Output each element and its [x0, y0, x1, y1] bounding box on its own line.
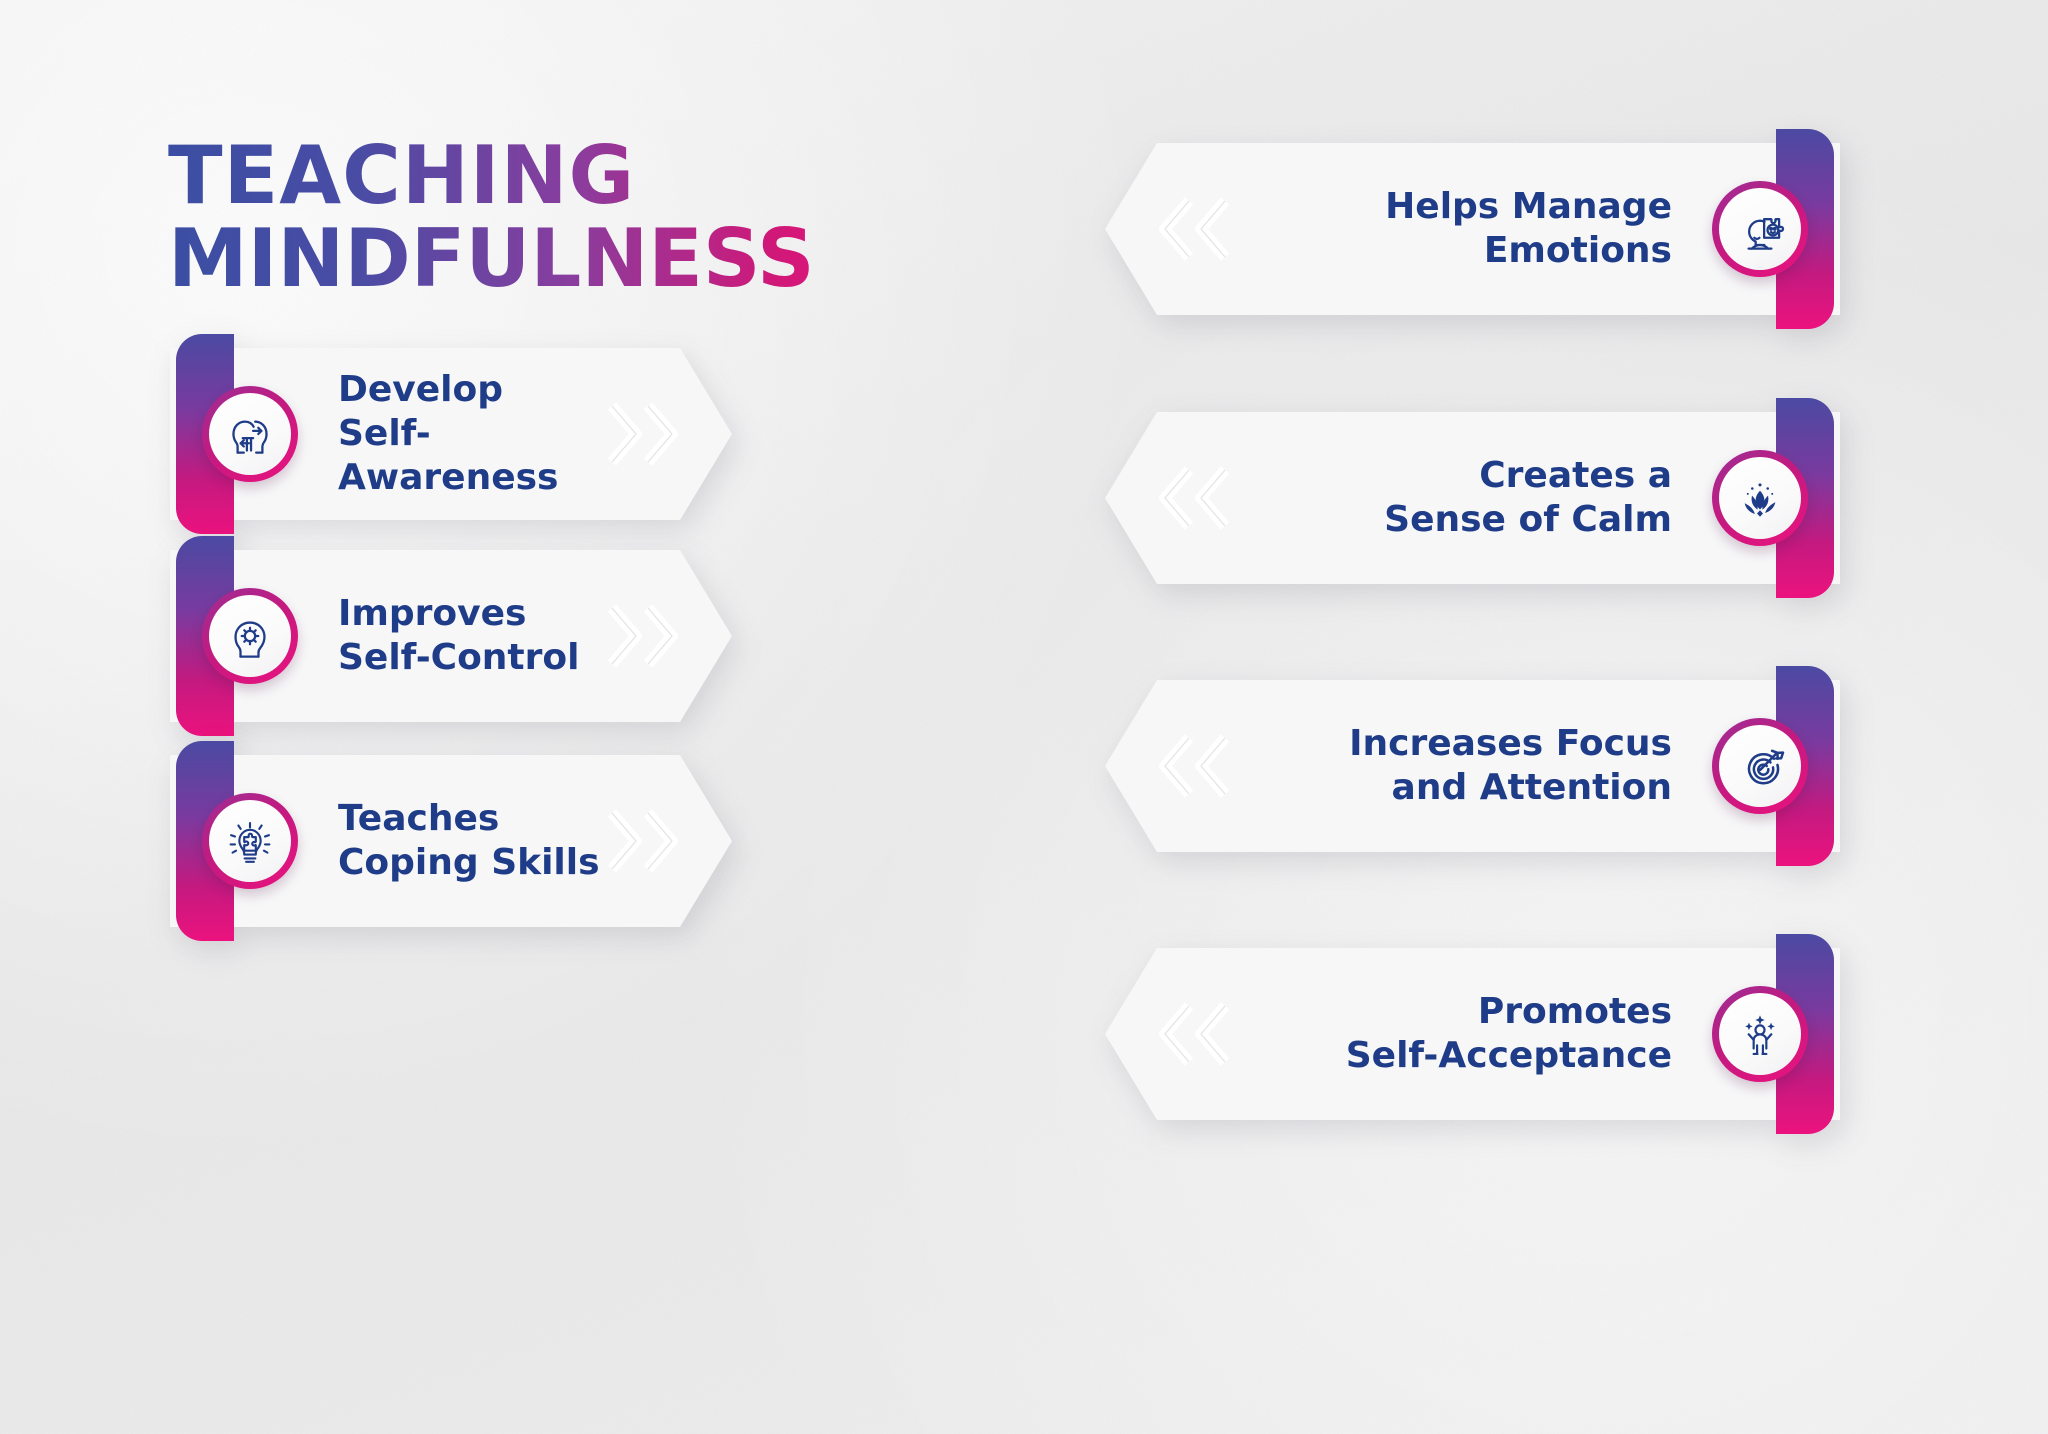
card-increases-focus-and-attention[interactable]: Increases Focus and Attention [1105, 680, 1840, 852]
title-line-teaching: TEACHING [168, 138, 908, 215]
person-sparkles-icon [1712, 986, 1808, 1082]
head-gear-icon [202, 588, 298, 684]
card-label: Increases Focus and Attention [1235, 722, 1672, 810]
chevron-left-decoration [1159, 197, 1229, 261]
card-label: Promotes Self-Acceptance [1235, 990, 1672, 1078]
chevron-right-decoration [608, 809, 678, 873]
card-label: Creates a Sense of Calm [1235, 454, 1672, 542]
head-smiley-puzzle-icon [1712, 181, 1808, 277]
card-improves-self-control[interactable]: Improves Self-Control [170, 550, 732, 722]
card-creates-sense-of-calm[interactable]: Creates a Sense of Calm [1105, 412, 1840, 584]
chevron-right-decoration [608, 402, 678, 466]
chevron-left-decoration [1159, 466, 1229, 530]
card-label: Helps Manage Emotions [1235, 185, 1672, 273]
chevron-left-decoration [1159, 1002, 1229, 1066]
target-arrow-icon [1712, 718, 1808, 814]
card-label: Improves Self-Control [338, 592, 612, 680]
chevron-right-decoration [608, 604, 678, 668]
card-teaches-coping-skills[interactable]: Teaches Coping Skills [170, 755, 732, 927]
page-title: TEACHING MINDFULNESS [168, 138, 908, 298]
chevron-left-decoration [1159, 734, 1229, 798]
card-label: Develop Self-Awareness [338, 368, 612, 500]
card-label: Teaches Coping Skills [338, 797, 612, 885]
card-develop-self-awareness[interactable]: Develop Self-Awareness [170, 348, 732, 520]
lightbulb-puzzle-icon [202, 793, 298, 889]
card-promotes-self-acceptance[interactable]: Promotes Self-Acceptance [1105, 948, 1840, 1120]
head-exchange-arrows-icon [202, 386, 298, 482]
title-line-mindfulness: MINDFULNESS [168, 221, 908, 298]
lotus-flower-icon [1712, 450, 1808, 546]
card-helps-manage-emotions[interactable]: Helps Manage Emotions [1105, 143, 1840, 315]
